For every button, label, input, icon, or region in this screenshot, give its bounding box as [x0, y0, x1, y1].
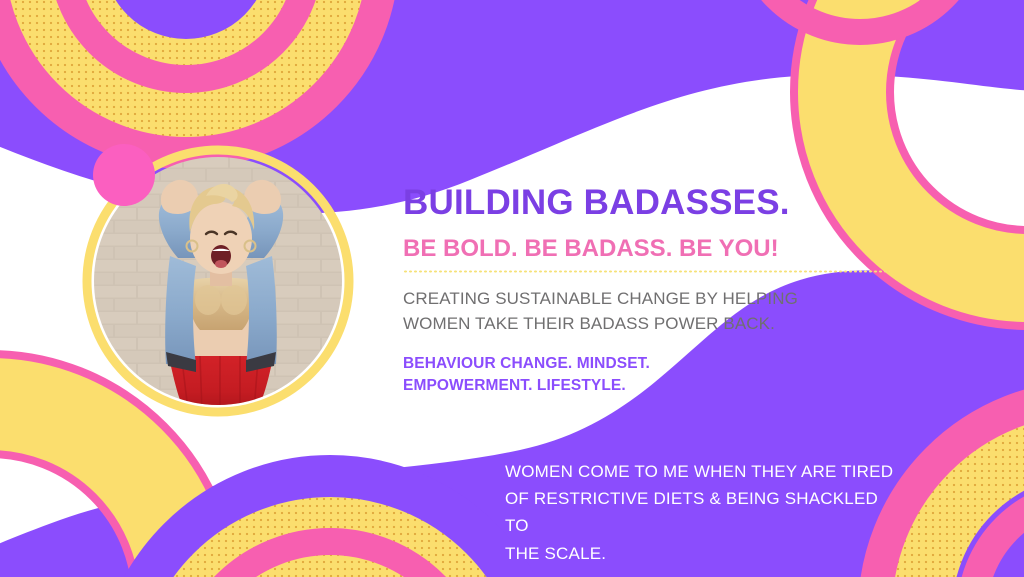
denim-jacket-left — [165, 256, 196, 366]
footer-copy: WOMEN COME TO ME WHEN THEY ARE TIRED OF … — [505, 458, 905, 567]
footer-line-1: WOMEN COME TO ME WHEN THEY ARE TIRED — [505, 458, 905, 485]
banner-canvas: BUILDING BADASSES. BE BOLD. BE BADASS. B… — [0, 0, 1024, 577]
tagline-line-1: BEHAVIOUR CHANGE. MINDSET. — [403, 353, 903, 375]
footer-line-2: OF RESTRICTIVE DIETS & BEING SHACKLED TO — [505, 485, 905, 539]
page-title: BUILDING BADASSES. — [403, 185, 903, 222]
tagline-line-2: EMPOWERMENT. LIFESTYLE. — [403, 375, 903, 397]
photo-accent-dot — [93, 144, 155, 206]
subtitle: BE BOLD. BE BADASS. BE YOU! — [403, 236, 903, 261]
portrait-photo — [87, 144, 349, 412]
tagline: BEHAVIOUR CHANGE. MINDSET. EMPOWERMENT. … — [403, 353, 903, 397]
footer-line-3: THE SCALE. — [505, 540, 905, 567]
body-line-1: CREATING SUSTAINABLE CHANGE BY HELPING — [403, 287, 903, 312]
body-line-2: WOMEN TAKE THEIR BADASS POWER BACK. — [403, 312, 903, 337]
dotted-divider — [403, 270, 890, 273]
main-copy-block: BUILDING BADASSES. BE BOLD. BE BADASS. B… — [403, 185, 903, 397]
body-copy: CREATING SUSTAINABLE CHANGE BY HELPING W… — [403, 287, 903, 336]
denim-jacket-right — [246, 256, 277, 366]
